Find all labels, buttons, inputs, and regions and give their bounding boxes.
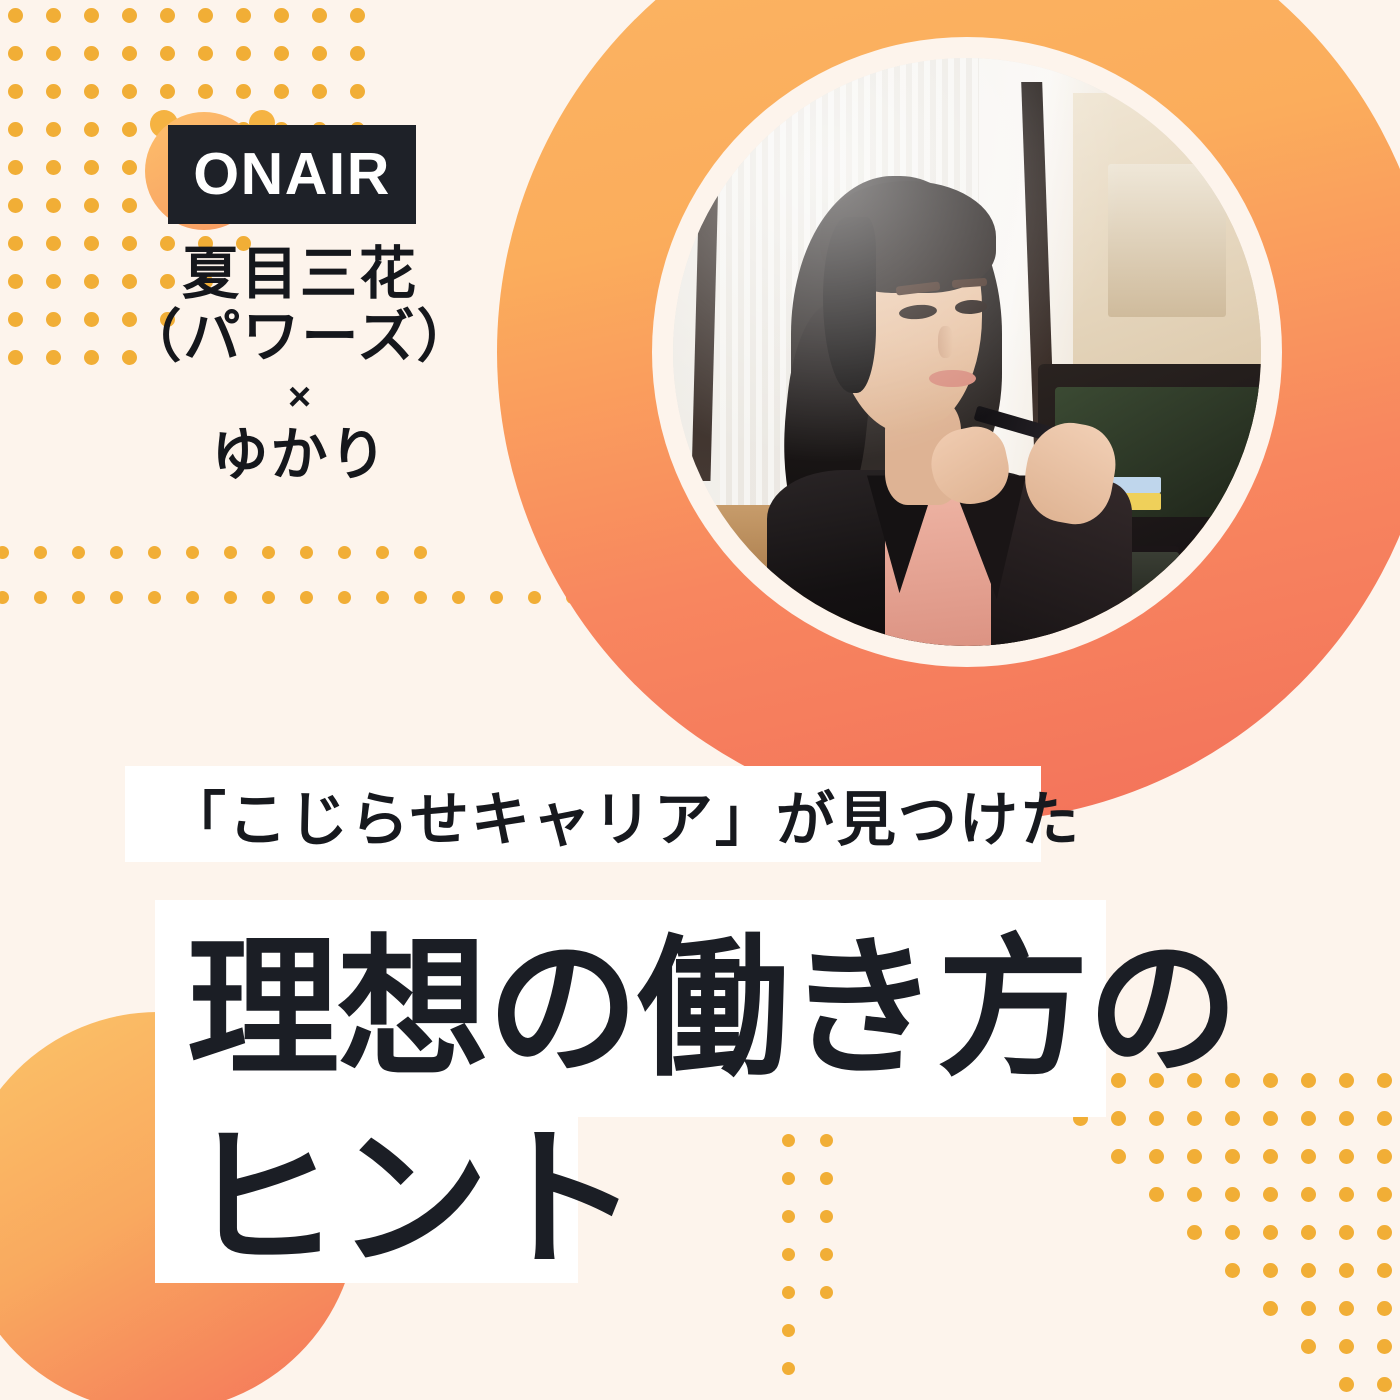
- decorative-dot: [1263, 1149, 1278, 1164]
- decorative-dot: [1301, 1149, 1316, 1164]
- decorative-dot: [782, 1362, 795, 1375]
- decorative-dot: [1111, 1111, 1126, 1126]
- decorative-dot: [46, 274, 61, 289]
- decorative-dot: [72, 591, 85, 604]
- decorative-dot: [122, 122, 137, 137]
- headline-line2-plate: ヒント: [155, 1117, 578, 1283]
- decorative-dot: [84, 8, 99, 23]
- guest-credits: 夏目三花 （パワーズ） × ゆかり: [110, 243, 490, 487]
- decorative-dot: [8, 312, 23, 327]
- decorative-dot: [376, 546, 389, 559]
- decorative-dot: [198, 8, 213, 23]
- decorative-dot: [1187, 1187, 1202, 1202]
- decorative-dot: [122, 160, 137, 175]
- decorative-dot: [8, 350, 23, 365]
- headline-line2-text: ヒント: [187, 1124, 637, 1276]
- decorative-dot: [1301, 1073, 1316, 1088]
- decorative-dot: [198, 84, 213, 99]
- decorative-dot: [8, 236, 23, 251]
- decorative-dot: [312, 84, 327, 99]
- decorative-dot: [1149, 1111, 1164, 1126]
- decorative-dot: [46, 198, 61, 213]
- decorative-dot: [148, 546, 161, 559]
- decorative-dot: [8, 8, 23, 23]
- decorative-dot: [820, 1210, 833, 1223]
- decorative-dot: [1149, 1149, 1164, 1164]
- decorative-dot: [782, 1248, 795, 1261]
- decorative-dot: [8, 198, 23, 213]
- decorative-dot: [1377, 1111, 1392, 1126]
- decorative-dot: [46, 236, 61, 251]
- decorative-dot: [1339, 1263, 1354, 1278]
- decorative-dot: [1263, 1225, 1278, 1240]
- decorative-dot: [84, 84, 99, 99]
- decorative-dot: [224, 546, 237, 559]
- decorative-dot: [1377, 1339, 1392, 1354]
- decorative-dot: [8, 46, 23, 61]
- decorative-dot: [1301, 1111, 1316, 1126]
- decorative-dot: [72, 546, 85, 559]
- decorative-dot: [84, 198, 99, 213]
- decorative-dot: [224, 591, 237, 604]
- headline-line1-text: 理想の働き方の: [187, 933, 1237, 1085]
- decorative-dot: [1377, 1073, 1392, 1088]
- decorative-dot: [1339, 1187, 1354, 1202]
- poster-canvas: ONAIR 夏目三花 （パワーズ） × ゆかり 「こじらせキャリア」が見つけた …: [0, 0, 1400, 1400]
- onair-badge-label: ONAIR: [193, 145, 391, 204]
- decorative-dot: [186, 546, 199, 559]
- decorative-dot: [160, 46, 175, 61]
- decorative-dot: [1187, 1149, 1202, 1164]
- decorative-dot: [0, 591, 9, 604]
- decorative-dot: [1339, 1377, 1354, 1392]
- decorative-dot: [782, 1210, 795, 1223]
- decorative-dot: [820, 1286, 833, 1299]
- decorative-dot: [84, 312, 99, 327]
- decorative-dot: [338, 546, 351, 559]
- decorative-dot: [1111, 1149, 1126, 1164]
- decorative-dot: [414, 546, 427, 559]
- decorative-dot: [1339, 1149, 1354, 1164]
- decorative-dot: [1187, 1111, 1202, 1126]
- decorative-dot: [338, 591, 351, 604]
- decorative-dot: [8, 84, 23, 99]
- decorative-dot: [1339, 1073, 1354, 1088]
- decorative-dot: [8, 122, 23, 137]
- portrait-photo: [673, 58, 1261, 646]
- guest-name: 夏目三花: [110, 243, 490, 306]
- decorative-dot: [84, 122, 99, 137]
- decorative-dot: [312, 46, 327, 61]
- decorative-dot: [1263, 1301, 1278, 1316]
- decorative-dot: [84, 350, 99, 365]
- decorative-dot: [1187, 1225, 1202, 1240]
- decorative-dot: [350, 46, 365, 61]
- decorative-dot: [1377, 1149, 1392, 1164]
- decorative-dot: [84, 236, 99, 251]
- decorative-dot: [148, 591, 161, 604]
- subtitle-plate: 「こじらせキャリア」が見つけた: [125, 766, 1041, 862]
- decorative-dot: [1301, 1225, 1316, 1240]
- decorative-dot: [820, 1248, 833, 1261]
- decorative-dot: [312, 8, 327, 23]
- subtitle-text: 「こじらせキャリア」が見つけた: [167, 772, 1081, 857]
- decorative-dot: [274, 8, 289, 23]
- decorative-dot: [528, 591, 541, 604]
- decorative-dot: [1149, 1187, 1164, 1202]
- decorative-dot: [1377, 1263, 1392, 1278]
- decorative-dot: [782, 1134, 795, 1147]
- decorative-dot: [122, 46, 137, 61]
- decorative-dot: [46, 312, 61, 327]
- decorative-dot: [376, 591, 389, 604]
- decorative-dot: [160, 8, 175, 23]
- decorative-dot: [46, 350, 61, 365]
- photo-light-wash: [673, 58, 1261, 646]
- decorative-dot: [274, 84, 289, 99]
- decorative-dot: [782, 1324, 795, 1337]
- decorative-dot: [1377, 1301, 1392, 1316]
- decorative-dot: [782, 1286, 795, 1299]
- decorative-dot: [46, 46, 61, 61]
- onair-badge: ONAIR: [168, 125, 416, 224]
- decorative-dot: [1339, 1111, 1354, 1126]
- decorative-dot: [8, 160, 23, 175]
- decorative-dot: [122, 8, 137, 23]
- decorative-dot: [1377, 1187, 1392, 1202]
- decorative-dot: [1301, 1339, 1316, 1354]
- decorative-dot: [300, 591, 313, 604]
- decorative-dot: [414, 591, 427, 604]
- decorative-dot: [1263, 1111, 1278, 1126]
- decorative-dot: [110, 591, 123, 604]
- decorative-dot: [34, 546, 47, 559]
- decorative-dot: [84, 274, 99, 289]
- decorative-dot: [160, 84, 175, 99]
- decorative-dot: [84, 46, 99, 61]
- decorative-dot: [782, 1172, 795, 1185]
- decorative-dot: [8, 274, 23, 289]
- decorative-dot: [1377, 1377, 1392, 1392]
- decorative-dot: [1339, 1339, 1354, 1354]
- decorative-dot: [236, 46, 251, 61]
- decorative-dot: [300, 546, 313, 559]
- headline-line1-plate: 理想の働き方の: [155, 900, 1106, 1117]
- decorative-dot: [1225, 1111, 1240, 1126]
- decorative-dot: [34, 591, 47, 604]
- decorative-dot: [274, 46, 289, 61]
- decorative-dot: [1377, 1225, 1392, 1240]
- decorative-dot: [236, 8, 251, 23]
- decorative-dot: [46, 160, 61, 175]
- decorative-dot: [1263, 1073, 1278, 1088]
- decorative-dot: [452, 591, 465, 604]
- decorative-dot: [122, 198, 137, 213]
- decorative-dot: [1301, 1263, 1316, 1278]
- decorative-dot: [1301, 1301, 1316, 1316]
- decorative-dot: [84, 160, 99, 175]
- guest-partner-name: ゆかり: [110, 424, 490, 487]
- decorative-dot: [1263, 1187, 1278, 1202]
- decorative-dot: [820, 1134, 833, 1147]
- decorative-dot: [46, 84, 61, 99]
- decorative-dot: [1339, 1225, 1354, 1240]
- decorative-dot: [262, 546, 275, 559]
- decorative-dot: [46, 122, 61, 137]
- decorative-dot: [1225, 1225, 1240, 1240]
- decorative-dot: [350, 84, 365, 99]
- decorative-dot: [1225, 1187, 1240, 1202]
- decorative-dot: [262, 591, 275, 604]
- decorative-dot: [1225, 1149, 1240, 1164]
- guest-separator: ×: [110, 370, 490, 424]
- guest-affiliation: （パワーズ）: [110, 306, 490, 369]
- decorative-dot: [350, 8, 365, 23]
- decorative-dot: [198, 46, 213, 61]
- decorative-dot: [236, 84, 251, 99]
- decorative-dot: [1225, 1263, 1240, 1278]
- decorative-dot: [186, 591, 199, 604]
- decorative-dot: [1339, 1301, 1354, 1316]
- decorative-dot: [1263, 1263, 1278, 1278]
- decorative-dot: [46, 8, 61, 23]
- decorative-dot: [110, 546, 123, 559]
- decorative-dot: [820, 1172, 833, 1185]
- decorative-dot: [1301, 1187, 1316, 1202]
- decorative-dot: [490, 591, 503, 604]
- decorative-dot: [0, 546, 9, 559]
- decorative-dot: [122, 84, 137, 99]
